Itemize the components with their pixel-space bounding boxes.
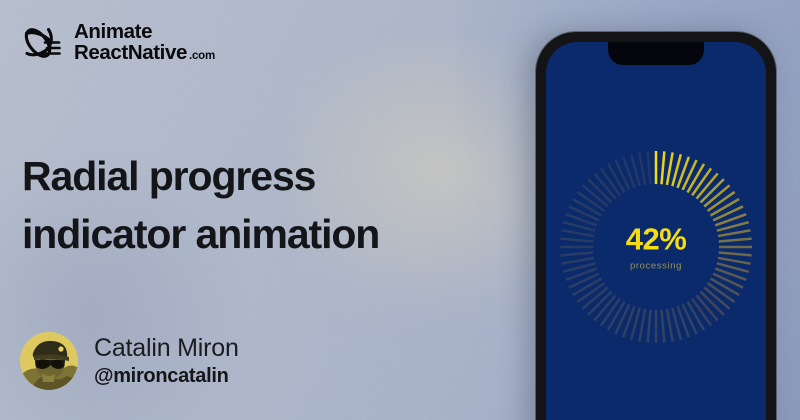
avatar xyxy=(20,332,78,390)
poster-canvas: Animate ReactNative .com Radial progress… xyxy=(0,0,800,420)
page-title-line-2: indicator animation xyxy=(22,205,502,263)
radial-progress-indicator[interactable]: 42% processing xyxy=(551,142,761,352)
brand-wordmark: Animate ReactNative .com xyxy=(74,22,215,64)
page-title: Radial progress indicator animation xyxy=(22,147,502,263)
author-handle[interactable]: @mironcatalin xyxy=(94,365,239,387)
brand-line-1: Animate xyxy=(74,22,215,43)
page-title-line-1: Radial progress xyxy=(22,147,502,205)
brand-line-2: ReactNative xyxy=(74,43,187,64)
phone-screen: 42% processing xyxy=(546,42,766,420)
author-byline[interactable]: Catalin Miron @mironcatalin xyxy=(20,332,239,390)
brand-tld: .com xyxy=(189,51,215,63)
phone-mockup: 42% processing xyxy=(536,32,776,420)
brand-logo[interactable]: Animate ReactNative .com xyxy=(18,20,215,66)
author-name: Catalin Miron xyxy=(94,335,239,363)
animate-react-native-atom-icon xyxy=(18,20,64,66)
phone-notch xyxy=(608,42,704,65)
